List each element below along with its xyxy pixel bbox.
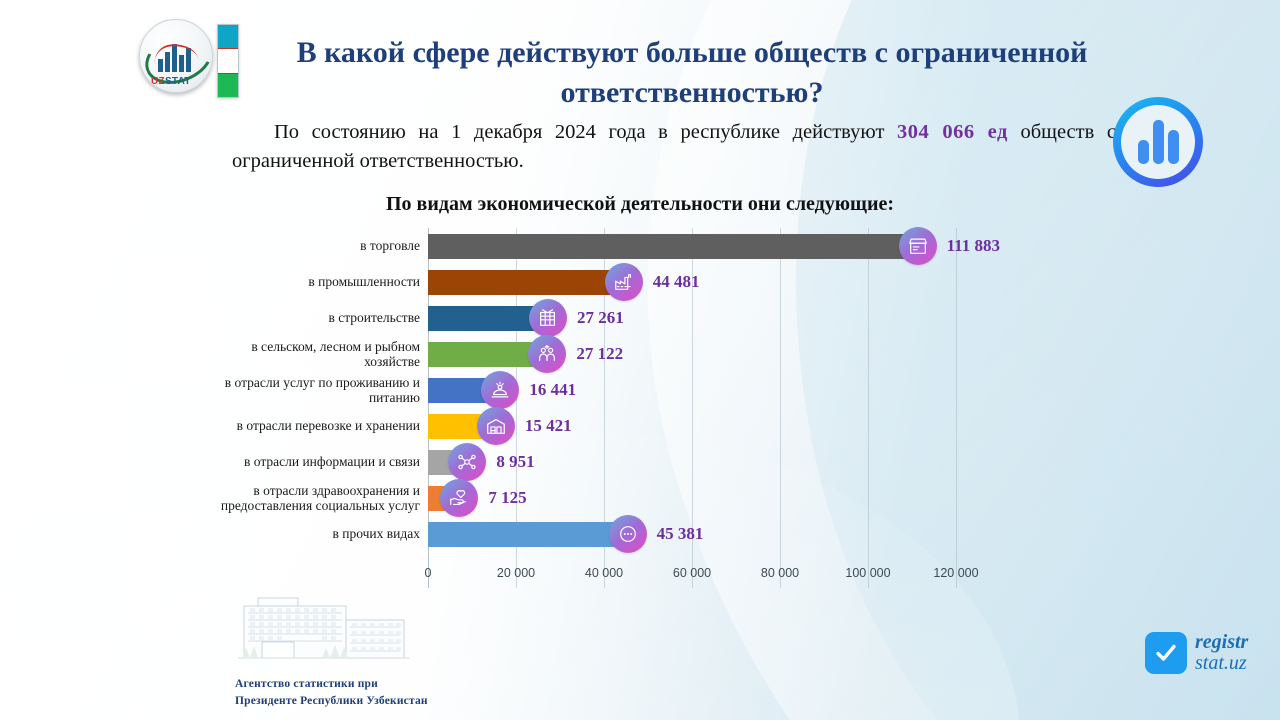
bar-category-label: в промышленности bbox=[200, 274, 420, 289]
uzbekistan-flag-bar bbox=[217, 24, 239, 98]
bar-value-label: 44 481 bbox=[653, 272, 700, 292]
network-icon bbox=[448, 443, 486, 481]
chart-bar-row[interactable]: в отрасли здравоохранения и предоставлен… bbox=[428, 480, 1000, 516]
registrstat-line-1: registr bbox=[1195, 632, 1248, 653]
registrstat-line-2: stat.uz bbox=[1195, 653, 1248, 674]
bar-chart-circle-bars bbox=[1138, 120, 1179, 164]
bar-category-label: в торговле bbox=[200, 238, 420, 253]
intro-paragraph: По состоянию на 1 декабря 2024 года в ре… bbox=[232, 118, 1116, 176]
bar-category-label: в отрасли здравоохранения и предоставлен… bbox=[200, 483, 420, 513]
healthcare-icon bbox=[440, 479, 478, 517]
chart-bar-row[interactable]: в промышленности44 481 bbox=[428, 264, 1000, 300]
bar-category-label: в сельском, лесном и рыбном хозяйстве bbox=[200, 339, 420, 369]
chart-bar-row[interactable]: в отрасли перевозке и хранении15 421 bbox=[428, 408, 1000, 444]
flag-stripe-white bbox=[218, 48, 238, 74]
registrstat-logo[interactable]: registr stat.uz bbox=[1145, 632, 1248, 674]
chart-bar[interactable] bbox=[428, 270, 624, 295]
uzstat-logo-circle: UZSTAT bbox=[139, 19, 213, 93]
chart-bar-row[interactable]: в отрасли информации и связи8 951 bbox=[428, 444, 1000, 480]
government-building-illustration bbox=[234, 596, 414, 668]
x-axis-tick-label: 0 bbox=[425, 566, 432, 580]
section-heading: По видам экономической деятельности они … bbox=[0, 193, 1280, 216]
hospitality-icon bbox=[481, 371, 519, 409]
intro-text-before: По состоянию на 1 декабря 2024 года в ре… bbox=[274, 121, 897, 143]
infographic-slide: UZSTAT В какой сфере действуют больше об… bbox=[0, 0, 1280, 720]
uzstat-wordmark-uz: UZ bbox=[151, 76, 165, 87]
shop-icon bbox=[899, 227, 937, 265]
bar-value-label: 27 261 bbox=[577, 308, 624, 328]
flag-stripe-green bbox=[218, 74, 238, 97]
bar-value-label: 16 441 bbox=[529, 380, 576, 400]
chart-bar[interactable] bbox=[428, 522, 628, 547]
chart-bar-row[interactable]: в прочих видах45 381 bbox=[428, 516, 1000, 552]
footer-line-1: Агентство статистики при bbox=[235, 676, 428, 693]
chart-bar-row[interactable]: в торговле111 883 bbox=[428, 228, 1000, 264]
chart-bar-row[interactable]: в строительстве27 261 bbox=[428, 300, 1000, 336]
horizontal-bar-chart: в торговле111 883в промышленности44 481в… bbox=[200, 228, 1000, 588]
check-icon bbox=[1145, 632, 1187, 674]
bar-category-label: в строительстве bbox=[200, 310, 420, 325]
x-axis-tick-label: 120 000 bbox=[933, 566, 978, 580]
page-title: В какой сфере действуют больше обществ с… bbox=[252, 33, 1132, 113]
bar-category-label: в отрасли информации и связи bbox=[200, 454, 420, 469]
uzstat-wordmark-stat: STAT bbox=[165, 76, 191, 87]
chart-x-axis: 020 00040 00060 00080 000100 000120 000 bbox=[428, 562, 1000, 588]
bar-category-label: в отрасли услуг по проживанию и питанию bbox=[200, 375, 420, 405]
bar-value-label: 111 883 bbox=[947, 236, 1000, 256]
chart-bar-row[interactable]: в отрасли услуг по проживанию и питанию1… bbox=[428, 372, 1000, 408]
ellipsis-icon bbox=[609, 515, 647, 553]
x-axis-tick-label: 100 000 bbox=[845, 566, 890, 580]
bar-value-label: 27 122 bbox=[576, 344, 623, 364]
uzstat-wordmark: UZSTAT bbox=[151, 76, 191, 87]
factory-icon bbox=[605, 263, 643, 301]
bar-value-label: 8 951 bbox=[496, 452, 534, 472]
bar-value-label: 7 125 bbox=[488, 488, 526, 508]
footer-line-2: Президенте Республики Узбекистан bbox=[235, 693, 428, 710]
chart-bar[interactable] bbox=[428, 234, 918, 259]
uzstat-logo: UZSTAT bbox=[139, 19, 239, 97]
intro-highlight-value: 304 066 ед bbox=[897, 121, 1008, 143]
x-axis-tick-label: 20 000 bbox=[497, 566, 535, 580]
chart-plot-area: в торговле111 883в промышленности44 481в… bbox=[428, 228, 1000, 588]
x-axis-tick-label: 40 000 bbox=[585, 566, 623, 580]
registrstat-wordmark: registr stat.uz bbox=[1195, 632, 1248, 674]
warehouse-icon bbox=[477, 407, 515, 445]
footer-agency-name: Агентство статистики при Президенте Респ… bbox=[235, 676, 428, 711]
chart-rows: в торговле111 883в промышленности44 481в… bbox=[428, 228, 1000, 588]
x-axis-tick-label: 80 000 bbox=[761, 566, 799, 580]
bar-category-label: в отрасли перевозке и хранении bbox=[200, 418, 420, 433]
chart-bar-row[interactable]: в сельском, лесном и рыбном хозяйстве27 … bbox=[428, 336, 1000, 372]
bar-value-label: 45 381 bbox=[657, 524, 704, 544]
agriculture-icon bbox=[528, 335, 566, 373]
bar-value-label: 15 421 bbox=[525, 416, 572, 436]
x-axis-tick-label: 60 000 bbox=[673, 566, 711, 580]
flag-stripe-blue bbox=[218, 25, 238, 48]
bar-chart-circle-icon bbox=[1113, 97, 1203, 187]
construction-icon bbox=[529, 299, 567, 337]
bar-category-label: в прочих видах bbox=[200, 526, 420, 541]
